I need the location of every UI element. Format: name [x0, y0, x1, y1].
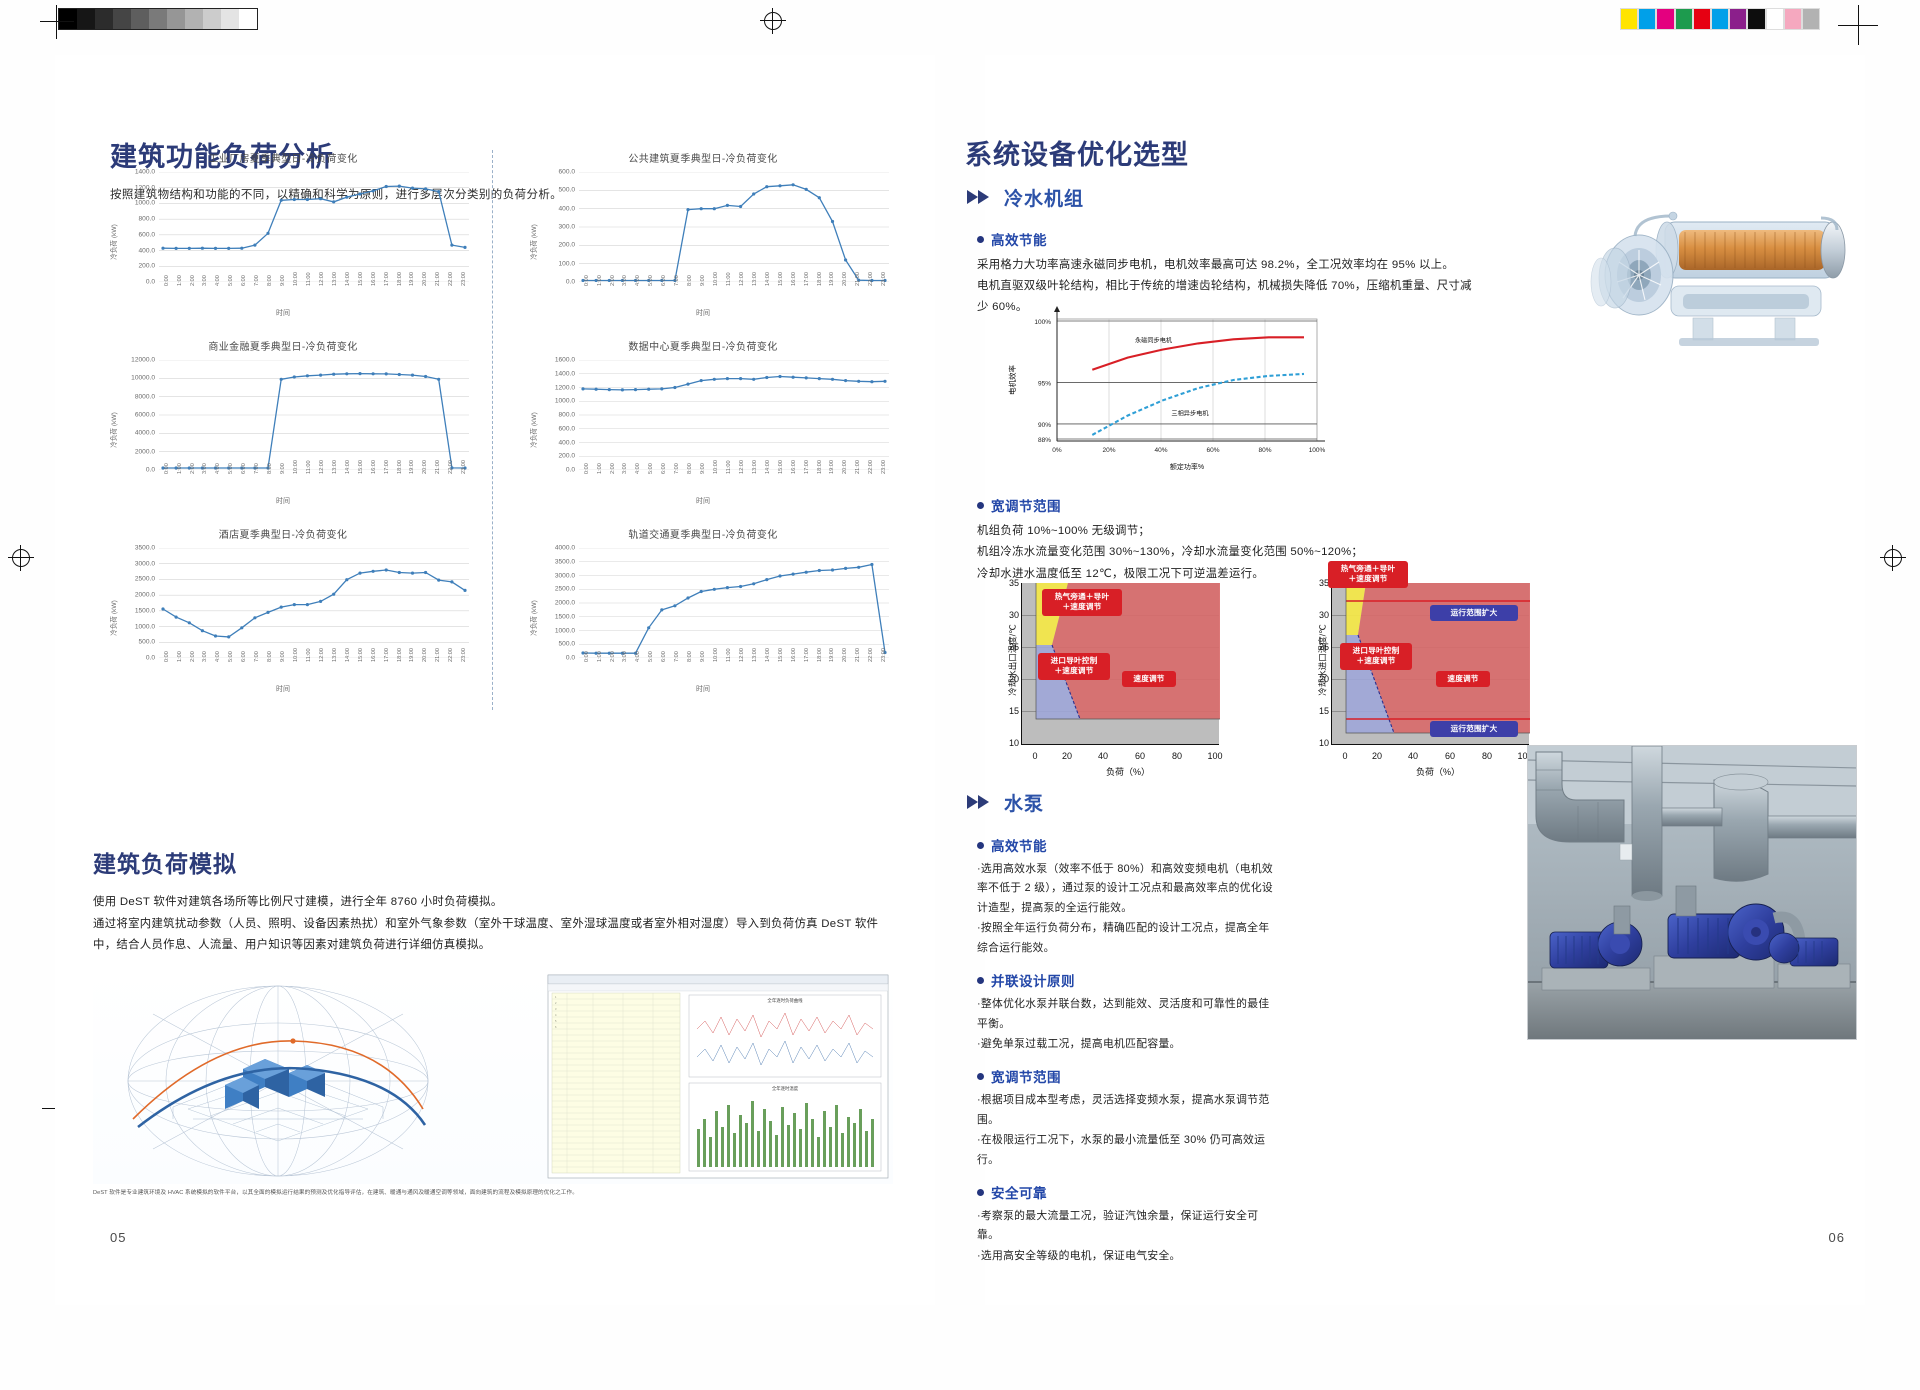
chart-yticks: 0.0200.0400.0600.0800.01000.01200.01400.…: [109, 172, 155, 282]
chart-xtick: 17:00: [804, 460, 810, 474]
chart-xtick: 7:00: [674, 651, 680, 662]
chart-xtick: 9:00: [280, 275, 286, 286]
chart-xlabel: 时间: [513, 684, 893, 694]
operating-map-right: 冷却水进口温度/℃ 35 30 25 20 15 10: [1285, 575, 1545, 765]
chart-xtick: 16:00: [791, 648, 797, 662]
operating-map-right-plot: 热气旁通＋导叶＋速度调节 运行范围扩大 进口导叶控制＋速度调节 速度调节 运行范…: [1331, 583, 1529, 745]
chart-title: 公共建筑夏季典型日-冷负荷变化: [513, 150, 893, 165]
chart-xtick: 3:00: [202, 651, 208, 662]
chart-xtick: 3:00: [622, 651, 628, 662]
chart-xtick: 23:00: [461, 272, 467, 286]
double-arrow-icon: [967, 190, 995, 205]
chart-title: 工业厂房夏季典型日-冷负荷变化: [93, 150, 473, 165]
chart-xtick: 3:00: [622, 275, 628, 286]
chart-xtick: 14:00: [765, 648, 771, 662]
chart-xtick: 11:00: [306, 460, 312, 474]
chart-xtick: 1:00: [177, 651, 183, 662]
ytick: 15: [1319, 706, 1329, 716]
ytick: 35: [1009, 578, 1019, 588]
chart-xtick: 8:00: [267, 275, 273, 286]
svg-text:100%: 100%: [1034, 319, 1051, 326]
chart-ytick: 2000.0: [109, 448, 155, 455]
svg-text:永磁同步电机: 永磁同步电机: [1135, 337, 1173, 345]
chart-xtick: 5:00: [228, 463, 234, 474]
xtick: 20: [1372, 751, 1382, 761]
chart-xtick: 14:00: [345, 460, 351, 474]
operating-map-left: 冷却水出口温度/℃ 35 30 25 20 15 10 热气旁通＋导叶＋速度调: [975, 575, 1235, 765]
chart-xtick: 22:00: [448, 272, 454, 286]
chart-xtick: 12:00: [319, 460, 325, 474]
chart-xtick: 6:00: [661, 275, 667, 286]
operating-map-left-yaxis: 冷却水出口温度/℃ 35 30 25 20 15 10: [975, 575, 1021, 745]
chart-ytick: 0.0: [109, 655, 155, 662]
simulation-caption: DeST 软件是专业建筑环境及 HVAC 系统模拟的软件平台，以其全面的模拟运行…: [93, 1189, 893, 1198]
chart-series: [159, 548, 469, 658]
chart-xtick: 0:00: [164, 651, 170, 662]
chart-xtick: 19:00: [409, 648, 415, 662]
chart-xtick: 2:00: [190, 651, 196, 662]
chart-xtick: 2:00: [190, 275, 196, 286]
chart-xtick: 11:00: [306, 272, 312, 286]
chart-ytick: 400.0: [109, 247, 155, 254]
chart-ytick: 1600.0: [529, 357, 575, 364]
chart-xtick: 18:00: [817, 648, 823, 662]
pump-block-1-item-1: ·避免单泵过载工况，提高电机匹配容量。: [977, 1035, 1277, 1054]
double-arrow-icon: [967, 795, 995, 810]
bullet-dot-icon: [977, 1073, 984, 1080]
chart-plot-area: 冷负荷 (kW)0.0200.0400.0600.0800.01000.0120…: [93, 168, 473, 316]
chart-xtick: 18:00: [817, 460, 823, 474]
ytick: 25: [1319, 642, 1329, 652]
chart-series: [159, 172, 469, 282]
chart-plot-area: 冷负荷 (kW)0.0500.01000.01500.02000.02500.0…: [513, 544, 893, 692]
chart-xtick: 8:00: [267, 463, 273, 474]
load-chart-2: 商业金融夏季典型日-冷负荷变化冷负荷 (kW)0.02000.04000.060…: [93, 338, 473, 518]
chart-xtick: 23:00: [881, 648, 887, 662]
chart-xtick: 19:00: [409, 272, 415, 286]
pump-block-3-item-0: ·考察泵的最大流量工况，验证汽蚀余量，保证运行安全可靠。: [977, 1207, 1277, 1246]
chart-xtick: 11:00: [726, 272, 732, 286]
chiller-block-1-title: 宽调节范围: [991, 495, 1061, 515]
chiller-section-title: 冷水机组: [1004, 184, 1084, 211]
chart-xtick: 10:00: [293, 272, 299, 286]
chart-xtick: 1:00: [597, 463, 603, 474]
load-chart-1: 公共建筑夏季典型日-冷负荷变化冷负荷 (kW)0.0100.0200.0300.…: [513, 150, 893, 330]
chart-xtick: 14:00: [765, 272, 771, 286]
chart-yticks: 0.02000.04000.06000.08000.010000.012000.…: [109, 360, 155, 470]
chart-xtick: 5:00: [648, 275, 654, 286]
pump-block-3-item-1: ·选用高安全等级的电机，保证电气安全。: [977, 1247, 1277, 1266]
chiller-block-1-header: 宽调节范围: [977, 495, 1487, 515]
chart-ytick: 3000.0: [529, 572, 575, 579]
chart-ytick: 3500.0: [109, 545, 155, 552]
chart-ytick: 2000.0: [109, 592, 155, 599]
chart-xtick: 10:00: [293, 460, 299, 474]
chart-xtick: 4:00: [215, 275, 221, 286]
chart-ytick: 0.0: [529, 655, 575, 662]
ytick: 15: [1009, 706, 1019, 716]
chart-ytick: 4000.0: [109, 430, 155, 437]
chart-xtick: 4:00: [635, 275, 641, 286]
chiller-block-1-para-1: 机组冷冻水流量变化范围 30%~130%，冷却水流量变化范围 50%~120%；: [977, 542, 1487, 562]
pump-block-0-title: 高效节能: [991, 835, 1047, 855]
chart-ytick: 500.0: [109, 639, 155, 646]
left-page-number: 05: [110, 1230, 126, 1245]
chart-ytick: 1400.0: [529, 370, 575, 377]
svg-text:90%: 90%: [1038, 422, 1051, 429]
chart-xtick: 20:00: [842, 460, 848, 474]
svg-text:88%: 88%: [1038, 437, 1051, 444]
operating-map-right-ylabel: 冷却水进口温度/℃: [1317, 624, 1329, 695]
chart-ytick: 1000.0: [529, 627, 575, 634]
simulation-graphic: 123 456 全年逐时负荷曲线 全年逐时温度: [93, 969, 893, 1184]
chart-xtick: 18:00: [397, 648, 403, 662]
chart-xtick: 1:00: [597, 275, 603, 286]
pump-block-1-header: 并联设计原则: [977, 970, 1277, 990]
load-chart-5: 轨道交通夏季典型日-冷负荷变化冷负荷 (kW)0.0500.01000.0150…: [513, 526, 893, 706]
pump-block-0-item-0: ·选用高效水泵（效率不低于 80%）和高效变频电机（电机效率不低于 2 级），通…: [977, 860, 1277, 918]
chart-ytick: 200.0: [109, 263, 155, 270]
chart-xtick: 19:00: [409, 460, 415, 474]
chart-xtick: 7:00: [254, 651, 260, 662]
chart-xtick: 16:00: [371, 648, 377, 662]
chart-xtick: 12:00: [739, 460, 745, 474]
chart-xtick: 16:00: [791, 460, 797, 474]
chart-title: 商业金融夏季典型日-冷负荷变化: [93, 338, 473, 353]
chart-xtick: 17:00: [384, 648, 390, 662]
chart-xtick: 1:00: [177, 463, 183, 474]
chart-xtick: 13:00: [752, 460, 758, 474]
xtick: 60: [1445, 751, 1455, 761]
chart-xtick: 4:00: [635, 651, 641, 662]
chart-xtick: 15:00: [358, 272, 364, 286]
chart-xtick: 11:00: [726, 460, 732, 474]
chart-xtick: 23:00: [461, 648, 467, 662]
xtick: 0: [1032, 751, 1037, 761]
chart-plot-area: 冷负荷 (kW)0.0200.0400.0600.0800.01000.0120…: [513, 356, 893, 504]
operating-map-left-tag-2: 速度调节: [1122, 671, 1176, 687]
chart-xtick: 21:00: [435, 460, 441, 474]
chart-xtick: 10:00: [713, 648, 719, 662]
svg-text:20%: 20%: [1102, 447, 1115, 454]
svg-text:0%: 0%: [1052, 447, 1062, 454]
chart-xtick: 6:00: [241, 275, 247, 286]
load-chart-3: 数据中心夏季典型日-冷负荷变化冷负荷 (kW)0.0200.0400.0600.…: [513, 338, 893, 518]
chart-xtick: 13:00: [332, 272, 338, 286]
chart-ytick: 800.0: [529, 412, 575, 419]
simulation-title: 建筑负荷模拟: [93, 845, 893, 879]
chiller-unit-photo: [1575, 170, 1855, 380]
chart-xtick: 0:00: [584, 275, 590, 286]
chiller-block-0-title: 高效节能: [991, 229, 1047, 249]
chart-xtick: 0:00: [584, 463, 590, 474]
chart-xtick: 7:00: [254, 463, 260, 474]
chart-xtick: 4:00: [635, 463, 641, 474]
chart-xtick: 12:00: [319, 648, 325, 662]
pump-block-1-title: 并联设计原则: [991, 970, 1075, 990]
chart-xtick: 6:00: [241, 463, 247, 474]
chart-xtick: 13:00: [332, 460, 338, 474]
operating-map-right-tag-0: 热气旁通＋导叶＋速度调节: [1328, 561, 1408, 588]
chart-xtick: 2:00: [610, 463, 616, 474]
chart-ytick: 2500.0: [109, 576, 155, 583]
chart-xtick: 12:00: [319, 272, 325, 286]
pump-blocks: 高效节能·选用高效水泵（效率不低于 80%）和高效变频电机（电机效率不低于 2 …: [977, 823, 1277, 1266]
chart-xtick: 0:00: [164, 463, 170, 474]
svg-text:额定功率%: 额定功率%: [1170, 462, 1204, 471]
svg-text:全年逐时温度: 全年逐时温度: [772, 1085, 799, 1092]
chart-xtick: 15:00: [358, 648, 364, 662]
chart-xtick: 16:00: [371, 460, 377, 474]
chart-ytick: 800.0: [109, 216, 155, 223]
chart-plot-area: 冷负荷 (kW)0.0100.0200.0300.0400.0500.0600.…: [513, 168, 893, 316]
chart-xtick: 0:00: [584, 651, 590, 662]
operating-map-left-xlabel: 负荷（%）: [1021, 765, 1235, 778]
chart-xtick: 1:00: [177, 275, 183, 286]
right-page-number: 06: [1829, 1230, 1845, 1245]
operating-map-right-xlabel: 负荷（%）: [1331, 765, 1545, 778]
chiller-graphic: [1575, 170, 1855, 380]
chiller-block-0-header: 高效节能: [977, 229, 1477, 249]
chart-plot-area: 冷负荷 (kW)0.0500.01000.01500.02000.02500.0…: [93, 544, 473, 692]
chart-ytick: 400.0: [529, 439, 575, 446]
chart-yticks: 0.0500.01000.01500.02000.02500.03000.035…: [529, 548, 575, 658]
pump-block-2-item-1: ·在极限运行工况下，水泵的最小流量低至 30% 仍可高效运行。: [977, 1131, 1277, 1170]
chart-xtick: 6:00: [661, 651, 667, 662]
load-chart-4: 酒店夏季典型日-冷负荷变化冷负荷 (kW)0.0500.01000.01500.…: [93, 526, 473, 706]
svg-text:95%: 95%: [1038, 380, 1051, 387]
pump-block-2-header: 宽调节范围: [977, 1066, 1277, 1086]
chart-xtick: 3:00: [202, 463, 208, 474]
bullet-dot-icon: [977, 236, 984, 243]
chart-ytick: 1500.0: [529, 613, 575, 620]
chiller-block-1-para-0: 机组负荷 10%~100% 无级调节；: [977, 521, 1487, 541]
bullet-dot-icon: [977, 502, 984, 509]
pump-block-1-item-0: ·整体优化水泵并联台数，达到能效、灵活度和可靠性的最佳平衡。: [977, 995, 1277, 1034]
chart-ytick: 0.0: [529, 467, 575, 474]
chart-xtick: 21:00: [435, 648, 441, 662]
chart-xtick: 16:00: [791, 272, 797, 286]
chart-series: [159, 360, 469, 470]
operating-map-right-yaxis: 冷却水进口温度/℃ 35 30 25 20 15 10: [1285, 575, 1331, 745]
bullet-dot-icon: [977, 842, 984, 849]
right-page: 系统设备优化选型 冷水机组 高效节能 采用格力大功率高速永磁同步电机，电机效率最…: [985, 55, 1865, 1305]
chart-xtick: 15:00: [358, 460, 364, 474]
chart-xtick: 23:00: [881, 272, 887, 286]
chart-yticks: 0.0200.0400.0600.0800.01000.01200.01400.…: [529, 360, 575, 470]
chart-xtick: 17:00: [804, 648, 810, 662]
chart-xlabel: 时间: [93, 684, 473, 694]
pump-block-0-header: 高效节能: [977, 835, 1277, 855]
svg-text:80%: 80%: [1258, 447, 1271, 454]
chart-xtick: 18:00: [817, 272, 823, 286]
chart-xtick: 13:00: [752, 648, 758, 662]
brochure-spread: 建筑功能负荷分析 按照建筑物结构和功能的不同，以精确和科学为原则，进行多层次分类…: [0, 0, 1920, 1390]
chart-ytick: 12000.0: [109, 357, 155, 364]
chart-xtick: 15:00: [778, 460, 784, 474]
chart-xtick: 5:00: [648, 463, 654, 474]
svg-text:电机效率: 电机效率: [1007, 365, 1017, 395]
chart-xtick: 9:00: [700, 463, 706, 474]
svg-text:100%: 100%: [1309, 447, 1326, 454]
chart-xtick: 21:00: [435, 272, 441, 286]
chart-ytick: 600.0: [529, 425, 575, 432]
chart-xtick: 5:00: [228, 275, 234, 286]
chart-xtick: 9:00: [280, 463, 286, 474]
simulation-paragraph-2: 通过将室内建筑扰动参数（人员、照明、设备因素热扰）和室外气象参数（室外干球温度、…: [93, 914, 893, 955]
chart-ytick: 400.0: [529, 205, 575, 212]
chart-xtick: 10:00: [713, 272, 719, 286]
chart-yticks: 0.0100.0200.0300.0400.0500.0600.0: [529, 172, 575, 282]
chart-xtick: 2:00: [610, 275, 616, 286]
chiller-section-header: 冷水机组: [967, 184, 1084, 211]
operating-map-left-ylabel: 冷却水出口温度/℃: [1007, 624, 1019, 695]
xtick: 20: [1062, 751, 1072, 761]
chart-xtick: 16:00: [371, 272, 377, 286]
chart-xtick: 18:00: [397, 272, 403, 286]
chart-xtick: 23:00: [461, 460, 467, 474]
chart-ytick: 1000.0: [109, 623, 155, 630]
xtick: 40: [1408, 751, 1418, 761]
chart-ytick: 200.0: [529, 453, 575, 460]
svg-text:40%: 40%: [1154, 447, 1167, 454]
ytick: 20: [1009, 674, 1019, 684]
chart-xtick: 22:00: [868, 460, 874, 474]
chart-ytick: 300.0: [529, 224, 575, 231]
chart-xtick: 13:00: [752, 272, 758, 286]
chart-ytick: 0.0: [109, 467, 155, 474]
chart-xtick: 10:00: [713, 460, 719, 474]
chart-xtick: 13:00: [332, 648, 338, 662]
chart-xtick: 8:00: [687, 463, 693, 474]
chart-xtick: 19:00: [829, 460, 835, 474]
chart-ytick: 1000.0: [109, 200, 155, 207]
pump-section-title: 水泵: [1004, 789, 1044, 816]
chart-series: [579, 360, 889, 470]
ytick: 20: [1319, 674, 1329, 684]
chart-xtick: 22:00: [868, 648, 874, 662]
chart-ytick: 1400.0: [109, 169, 155, 176]
pump-block-2-item-0: ·根据项目成本型考虑，灵活选择变频水泵，提高水泵调节范围。: [977, 1091, 1277, 1130]
load-charts-grid: 工业厂房夏季典型日-冷负荷变化冷负荷 (kW)0.0200.0400.0600.…: [93, 150, 893, 710]
chart-ytick: 0.0: [109, 279, 155, 286]
chart-xlabel: 时间: [513, 496, 893, 506]
chart-xlabel: 时间: [513, 308, 893, 318]
chart-ytick: 8000.0: [109, 393, 155, 400]
operating-map-right-tag-3: 速度调节: [1436, 671, 1490, 687]
chart-xtick: 17:00: [384, 272, 390, 286]
chart-ytick: 500.0: [529, 187, 575, 194]
chart-xtick: 21:00: [855, 460, 861, 474]
chart-ytick: 4000.0: [529, 545, 575, 552]
chart-xtick: 19:00: [829, 272, 835, 286]
bullet-dot-icon: [977, 1189, 984, 1196]
chart-ytick: 1000.0: [529, 398, 575, 405]
ytick: 10: [1009, 738, 1019, 748]
pump-room-graphic: [1528, 746, 1857, 1040]
chart-xtick: 21:00: [855, 648, 861, 662]
chart-xtick: 23:00: [881, 460, 887, 474]
chart-xlabel: 时间: [93, 308, 473, 318]
chart-ytick: 600.0: [529, 169, 575, 176]
chart-xtick: 14:00: [345, 648, 351, 662]
chart-series: [579, 548, 889, 658]
chart-xtick: 20:00: [422, 648, 428, 662]
pump-block-3-title: 安全可靠: [991, 1182, 1047, 1202]
chart-xtick: 4:00: [215, 463, 221, 474]
simulation-paragraph-1: 使用 DeST 软件对建筑各场所等比例尺寸建模，进行全年 8760 小时负荷模拟…: [93, 892, 893, 912]
chart-ytick: 0.0: [529, 279, 575, 286]
chart-ytick: 2000.0: [529, 600, 575, 607]
ytick: 25: [1009, 642, 1019, 652]
chart-ytick: 500.0: [529, 641, 575, 648]
chart-xtick: 9:00: [280, 651, 286, 662]
pump-block-3-header: 安全可靠: [977, 1182, 1277, 1202]
chart-ytick: 100.0: [529, 260, 575, 267]
left-page: 建筑功能负荷分析 按照建筑物结构和功能的不同，以精确和科学为原则，进行多层次分类…: [55, 55, 935, 1305]
building-simulation-section: 建筑负荷模拟 使用 DeST 软件对建筑各场所等比例尺寸建模，进行全年 8760…: [93, 845, 893, 1198]
operating-map-right-tag-4: 运行范围扩大: [1430, 721, 1518, 737]
chart-xtick: 7:00: [674, 275, 680, 286]
chart-series: [579, 172, 889, 282]
load-chart-0: 工业厂房夏季典型日-冷负荷变化冷负荷 (kW)0.0200.0400.0600.…: [93, 150, 473, 330]
xtick: 0: [1342, 751, 1347, 761]
xtick: 80: [1482, 751, 1492, 761]
chart-plot-area: 冷负荷 (kW)0.02000.04000.06000.08000.010000…: [93, 356, 473, 504]
chart-ytick: 1500.0: [109, 607, 155, 614]
chart-xtick: 3:00: [202, 275, 208, 286]
chart-title: 轨道交通夏季典型日-冷负荷变化: [513, 526, 893, 541]
chart-xtick: 17:00: [384, 460, 390, 474]
chart-xtick: 18:00: [397, 460, 403, 474]
chart-xtick: 5:00: [648, 651, 654, 662]
xtick: 40: [1098, 751, 1108, 761]
xtick: 60: [1135, 751, 1145, 761]
bullet-dot-icon: [977, 977, 984, 984]
chart-xtick: 22:00: [868, 272, 874, 286]
right-page-title: 系统设备优化选型: [965, 133, 1465, 172]
operating-map-left-tag-1: 进口导叶控制＋速度调节: [1038, 653, 1110, 680]
chart-xtick: 2:00: [610, 651, 616, 662]
operating-map-left-tag-0: 热气旁通＋导叶＋速度调节: [1042, 589, 1122, 616]
chart-xtick: 12:00: [739, 272, 745, 286]
chart-xtick: 15:00: [778, 648, 784, 662]
chart-xtick: 12:00: [739, 648, 745, 662]
chart-xtick: 20:00: [422, 272, 428, 286]
chart-xtick: 15:00: [778, 272, 784, 286]
chiller-block-0-para-0: 采用格力大功率高速永磁同步电机，电机效率最高可达 98.2%，全工况效率均在 9…: [977, 255, 1477, 275]
pump-section-header: 水泵: [967, 789, 1044, 816]
operating-map-left-plot: 热气旁通＋导叶＋速度调节 进口导叶控制＋速度调节 速度调节: [1021, 583, 1219, 745]
ytick: 30: [1319, 610, 1329, 620]
chart-xtick: 20:00: [842, 272, 848, 286]
svg-text:三相异步电机: 三相异步电机: [1171, 409, 1209, 417]
chart-ytick: 2500.0: [529, 586, 575, 593]
chart-xtick: 6:00: [661, 463, 667, 474]
chart-xtick: 20:00: [422, 460, 428, 474]
chart-xtick: 8:00: [687, 651, 693, 662]
chart-xtick: 7:00: [254, 275, 260, 286]
chart-xtick: 7:00: [674, 463, 680, 474]
chart-xtick: 8:00: [267, 651, 273, 662]
chart-xtick: 20:00: [842, 648, 848, 662]
chart-xtick: 5:00: [228, 651, 234, 662]
chart-xtick: 2:00: [190, 463, 196, 474]
chart-xtick: 10:00: [293, 648, 299, 662]
chart-xtick: 8:00: [687, 275, 693, 286]
chart-ytick: 6000.0: [109, 412, 155, 419]
chart-title: 数据中心夏季典型日-冷负荷变化: [513, 338, 893, 353]
